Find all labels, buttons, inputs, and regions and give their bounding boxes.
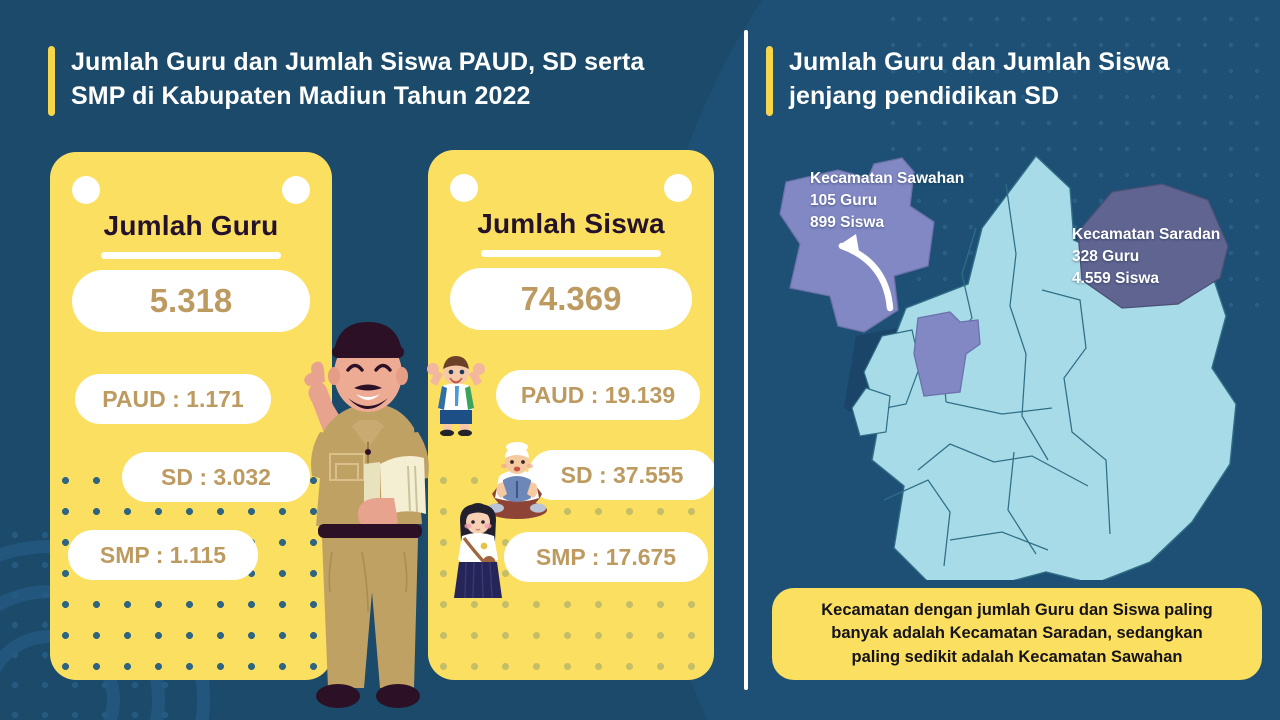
card-siswa-total: 74.369 xyxy=(450,268,692,330)
map-caption-box: Kecamatan dengan jumlah Guru dan Siswa p… xyxy=(772,588,1262,680)
title-accent-bar xyxy=(48,46,55,116)
map-label-saradan: Kecamatan Saradan 328 Guru 4.559 Siswa xyxy=(1072,224,1220,290)
map-caption-text: Kecamatan dengan jumlah Guru dan Siswa p… xyxy=(821,599,1213,669)
vertical-divider xyxy=(744,30,748,690)
card-guru-smp: SMP : 1.115 xyxy=(68,530,258,580)
card-siswa-sd: SD : 37.555 xyxy=(528,450,714,500)
right-panel-title: Jumlah Guru dan Jumlah Siswa jenjang pen… xyxy=(766,46,1236,116)
right-title-text: Jumlah Guru dan Jumlah Siswa jenjang pen… xyxy=(789,46,1170,113)
student-cheering-illustration xyxy=(424,352,488,436)
title-accent-bar xyxy=(766,46,773,116)
card-hole-left-icon xyxy=(72,176,100,204)
map-region: Kecamatan Sawahan 105 Guru 899 Siswa Kec… xyxy=(760,140,1272,580)
card-hole-left-icon xyxy=(450,174,478,202)
card-hole-right-icon xyxy=(664,174,692,202)
map-label-sawahan: Kecamatan Sawahan 105 Guru 899 Siswa xyxy=(810,168,964,234)
card-siswa-paud: PAUD : 19.139 xyxy=(496,370,700,420)
card-guru-title: Jumlah Guru xyxy=(50,210,332,242)
left-title-text: Jumlah Guru dan Jumlah Siswa PAUD, SD se… xyxy=(71,46,644,113)
left-panel-title: Jumlah Guru dan Jumlah Siswa PAUD, SD se… xyxy=(48,46,738,116)
card-title-underline xyxy=(481,250,661,257)
card-hole-right-icon xyxy=(282,176,310,204)
card-title-underline xyxy=(101,252,281,259)
student-girl-illustration xyxy=(446,498,510,602)
card-guru-paud: PAUD : 1.171 xyxy=(75,374,271,424)
card-siswa-smp: SMP : 17.675 xyxy=(504,532,708,582)
infographic-canvas: Jumlah Guru dan Jumlah Siswa PAUD, SD se… xyxy=(0,0,1280,720)
card-siswa-title: Jumlah Siswa xyxy=(428,208,714,240)
